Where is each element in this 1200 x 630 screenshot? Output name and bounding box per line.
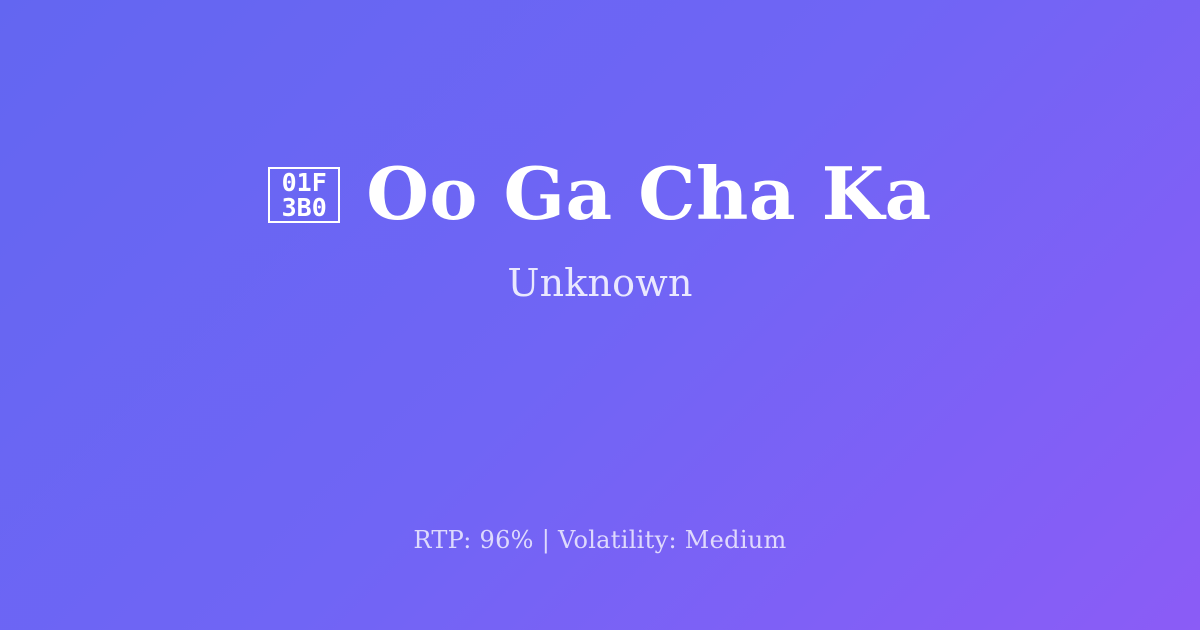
game-og-card: 01F 3B0 Oo Ga Cha Ka Unknown RTP: 96% | … <box>0 0 1200 630</box>
slot-machine-icon: 01F 3B0 <box>268 167 340 223</box>
game-provider: Unknown <box>507 264 692 302</box>
tofu-hex-line-2: 3B0 <box>282 195 327 221</box>
title-block: 01F 3B0 Oo Ga Cha Ka Unknown <box>0 0 1200 460</box>
game-meta-stats: RTP: 96% | Volatility: Medium <box>413 526 786 555</box>
page-title: Oo Ga Cha Ka <box>366 158 932 230</box>
meta-row: RTP: 96% | Volatility: Medium <box>0 526 1200 555</box>
headline: 01F 3B0 Oo Ga Cha Ka <box>268 158 932 230</box>
tofu-hex-line-1: 01F <box>282 170 327 196</box>
